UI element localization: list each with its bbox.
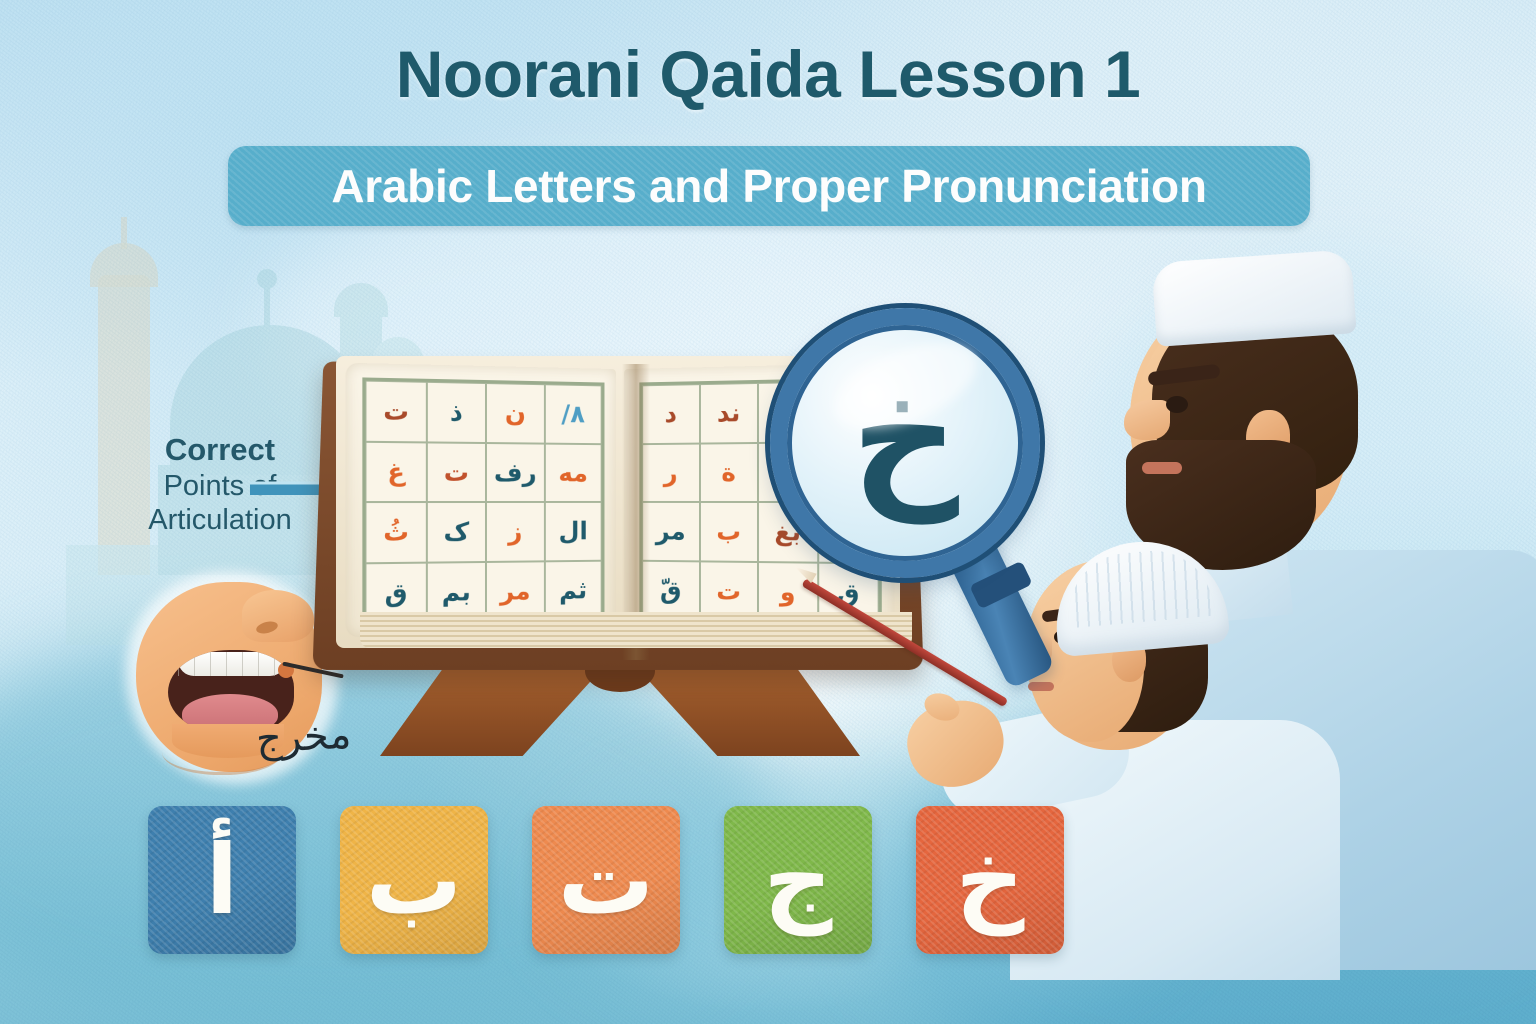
- letter-cell: ب: [699, 502, 757, 562]
- letter-card-glyph: خ: [955, 832, 1024, 928]
- letter-cell: ند: [699, 383, 757, 443]
- teacher-mouth: [1142, 462, 1182, 474]
- page-subtitle: Arabic Letters and Proper Pronunciation: [331, 159, 1206, 213]
- letter-card-glyph: ج: [763, 832, 832, 928]
- letter-card-glyph: ب: [366, 832, 462, 928]
- left-page-letter-grid: تذن٨/غترفمهثُکزالقبممرثم: [362, 377, 604, 626]
- subtitle-banner: Arabic Letters and Proper Pronunciation: [228, 146, 1310, 226]
- letter-cell: ر: [642, 443, 699, 502]
- teacher-taqiyah-cap: [1151, 249, 1356, 347]
- page-title: Noorani Qaida Lesson 1: [0, 36, 1536, 112]
- letter-cell: د: [642, 384, 699, 443]
- letter-cell: ٨/: [544, 384, 601, 443]
- magnifier-lens: خ: [770, 308, 1040, 578]
- teacher-nose: [1124, 400, 1170, 440]
- letter-card-kha[interactable]: خ: [916, 806, 1064, 954]
- letter-cell: ثُ: [365, 502, 426, 563]
- letter-card-ba[interactable]: ب: [340, 806, 488, 954]
- magnifying-glass-icon: خ: [760, 308, 1060, 698]
- letter-cell: ذ: [426, 382, 486, 443]
- letter-cell: رف: [486, 443, 544, 502]
- mouth-arabic-caption: مخرج: [255, 712, 352, 763]
- letter-cell: ة: [699, 442, 757, 502]
- letter-card-row: أبتجخ: [148, 806, 1088, 956]
- letter-cell: ت: [365, 381, 426, 442]
- letter-cell: قّ: [642, 560, 699, 620]
- letter-cell: غ: [365, 441, 426, 502]
- letter-card-alif[interactable]: أ: [148, 806, 296, 954]
- letter-card-ta[interactable]: ت: [532, 806, 680, 954]
- letter-card-glyph: ت: [558, 832, 654, 928]
- letter-card-jeem[interactable]: ج: [724, 806, 872, 954]
- teacher-eye: [1166, 396, 1188, 413]
- letter-card-glyph: أ: [206, 832, 239, 928]
- letter-cell: ثم: [544, 560, 601, 619]
- letter-cell: ت: [426, 442, 486, 502]
- letter-cell: مه: [544, 443, 601, 502]
- book-left-page: تذن٨/غترفمهثُکزالقبممرثم: [346, 363, 616, 637]
- letter-cell: ال: [544, 502, 601, 561]
- letter-cell: مر: [642, 502, 699, 561]
- annotation-line-1: Correct: [110, 432, 330, 469]
- letter-cell: ن: [486, 383, 544, 443]
- letter-cell: ز: [486, 502, 544, 561]
- illustration-canvas: Noorani Qaida Lesson 1 Arabic Letters an…: [0, 0, 1536, 1024]
- letter-cell: ک: [426, 502, 486, 562]
